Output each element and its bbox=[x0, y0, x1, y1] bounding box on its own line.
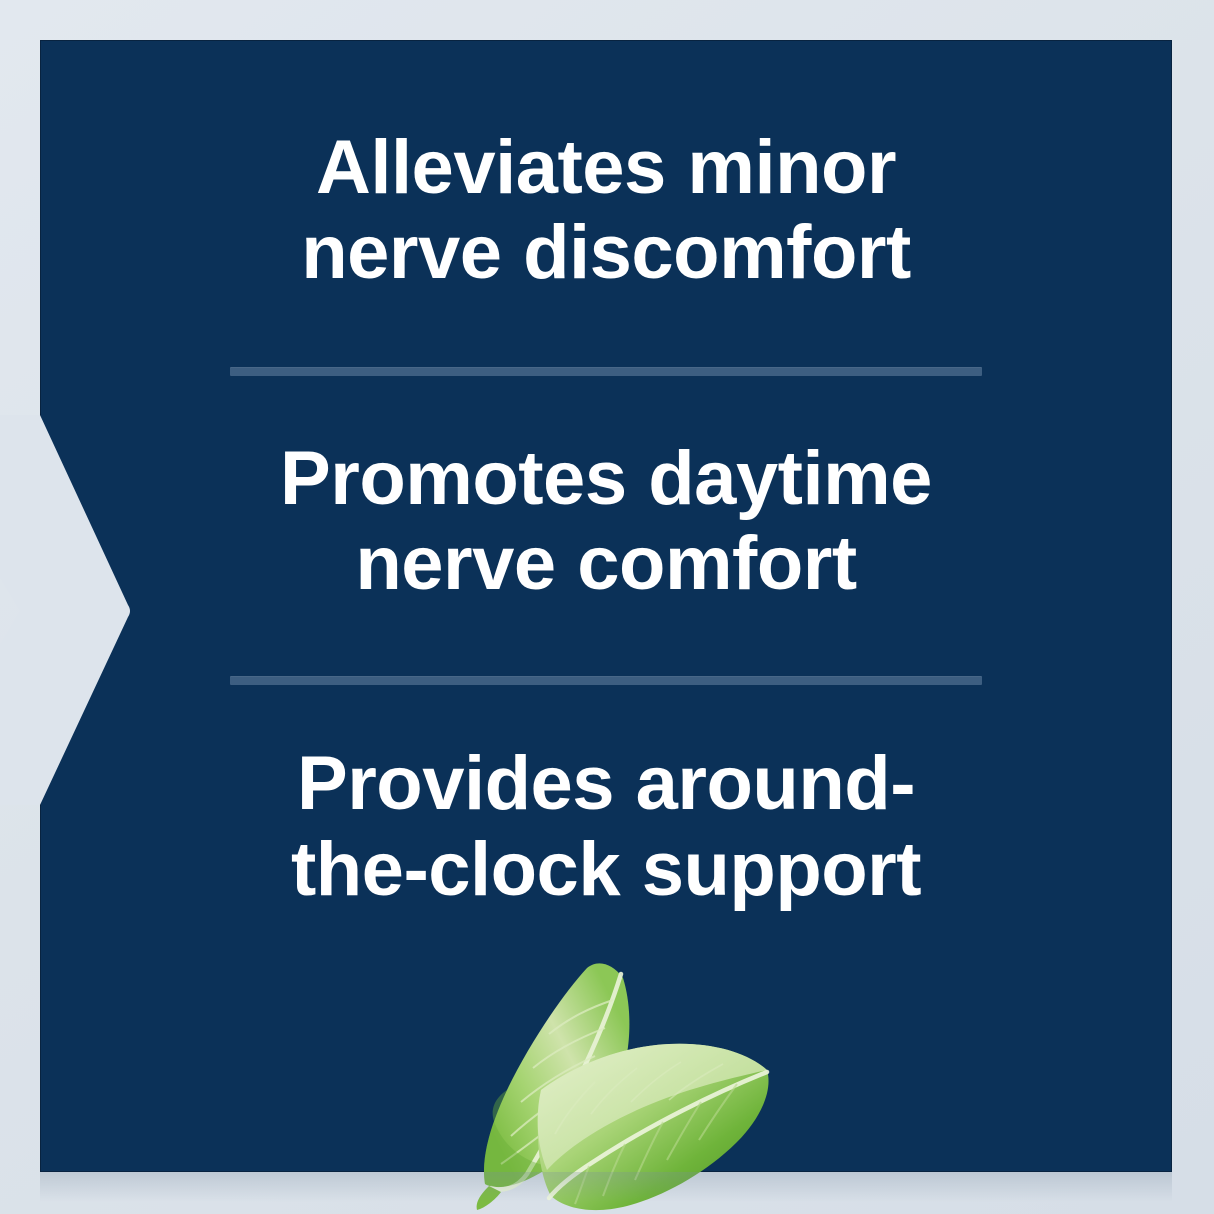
benefit-item-2: Promotes daytime nerve comfort bbox=[230, 436, 982, 606]
benefit-item-3: Provides around- the-clock support bbox=[230, 741, 982, 911]
benefits-list: Alleviates minor nerve discomfort Promot… bbox=[40, 40, 1172, 1172]
benefit-3-line-2: the-clock support bbox=[230, 827, 982, 912]
benefit-item-1: Alleviates minor nerve discomfort bbox=[230, 125, 982, 295]
benefit-2-line-1: Promotes daytime bbox=[230, 436, 982, 521]
benefit-2-line-2: nerve comfort bbox=[230, 521, 982, 606]
divider-1 bbox=[230, 367, 982, 376]
leaf-stem bbox=[477, 1186, 501, 1210]
benefit-1-line-1: Alleviates minor bbox=[230, 125, 982, 210]
screenshot-canvas: Alleviates minor nerve discomfort Promot… bbox=[0, 0, 1214, 1214]
benefit-3-line-1: Provides around- bbox=[230, 741, 982, 826]
benefit-1-line-2: nerve discomfort bbox=[230, 210, 982, 295]
divider-2 bbox=[230, 676, 982, 685]
panel-drop-shadow bbox=[40, 1172, 1172, 1202]
